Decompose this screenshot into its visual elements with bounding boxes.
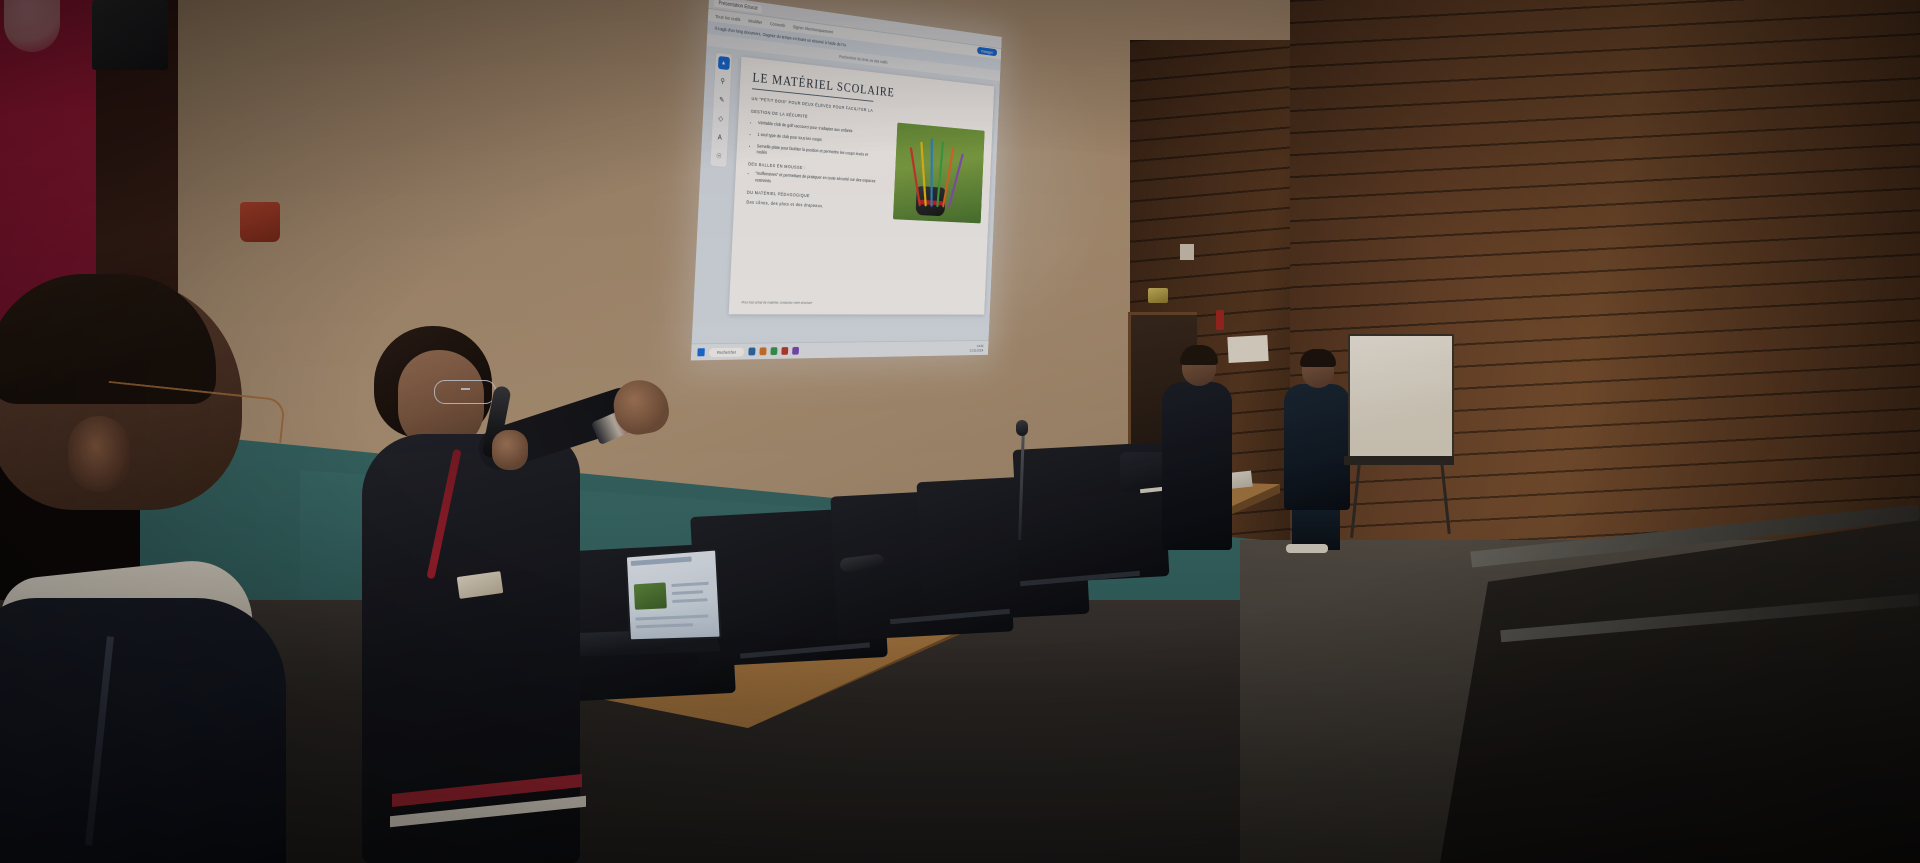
doc-search-placeholder: Rechercher du texte ou des outils (839, 54, 887, 65)
foreground-man (0, 268, 286, 863)
cup-on-table (240, 202, 280, 242)
cursor-icon[interactable]: ▴ (717, 56, 729, 70)
foreground-man-body (0, 598, 286, 863)
man-by-wall-hair (1300, 349, 1336, 367)
slide-page: LE MATÉRIEL SCOLAIRE UN "PETIT BOIS" POU… (729, 57, 995, 315)
zoom-icon[interactable]: ⚲ (717, 75, 729, 89)
wall-box-icon (1180, 244, 1194, 260)
man-by-doorway (1158, 348, 1234, 548)
speaker-woman (362, 322, 662, 863)
golf-club-icon (942, 146, 955, 207)
wall-speaker-icon (92, 0, 168, 70)
slide-footnote: Pour tout achat de matériel, contactez v… (741, 301, 812, 305)
taskbar-search-input[interactable]: Rechercher (709, 347, 744, 356)
taskbar-app-icon[interactable] (781, 347, 788, 355)
golf-club-icon (930, 138, 932, 206)
microphone-head-icon (1016, 420, 1028, 436)
man-by-wall-body (1284, 384, 1350, 510)
fire-extinguisher-icon (1216, 310, 1224, 330)
clock-date: 21/11/2024 (970, 348, 984, 353)
menu-item-tous-les-outils[interactable]: Tous les outils (715, 13, 741, 21)
exit-sign-icon (1148, 288, 1168, 303)
foreground-man-ear (68, 416, 130, 492)
menu-item-modifier[interactable]: Modifier (748, 18, 762, 25)
taskbar-app-icon[interactable] (770, 347, 777, 355)
highlight-icon[interactable]: ◇ (715, 112, 727, 126)
projection-screen: Présentation Educat Tous les outils Modi… (691, 0, 1002, 360)
man-by-doorway-hair (1180, 345, 1218, 365)
man-by-wall (1282, 352, 1354, 550)
tool-rail: ▴ ⚲ ✎ ◇ A ☉ (709, 52, 732, 168)
pillar-logo (4, 0, 60, 52)
man-by-wall-shoes (1286, 544, 1328, 553)
photograph-scene: Présentation Educat Tous les outils Modi… (0, 0, 1920, 863)
man-by-doorway-body (1162, 382, 1232, 550)
speaker-mic-hand (492, 430, 528, 470)
taskbar-app-icon[interactable] (759, 347, 766, 355)
menu-item-convertir[interactable]: Convertir (770, 21, 786, 28)
laptop-ui-line (671, 582, 708, 587)
windows-start-icon[interactable] (697, 348, 705, 356)
laptop-ui-line (672, 590, 703, 594)
taskbar-app-icon[interactable] (748, 348, 755, 356)
laptop-ui-line (672, 598, 707, 602)
search-zoom-icon[interactable]: ☉ (713, 150, 725, 164)
text-select-icon[interactable]: A (714, 131, 726, 145)
flipchart-whiteboard (1348, 334, 1454, 462)
taskbar-clock[interactable]: 14:32 21/11/2024 (970, 343, 984, 352)
pen-icon[interactable]: ✎ (716, 93, 728, 107)
glasses-icon (434, 380, 496, 404)
taskbar-app-icon[interactable] (792, 347, 799, 355)
golf-equipment-photo (893, 123, 985, 224)
